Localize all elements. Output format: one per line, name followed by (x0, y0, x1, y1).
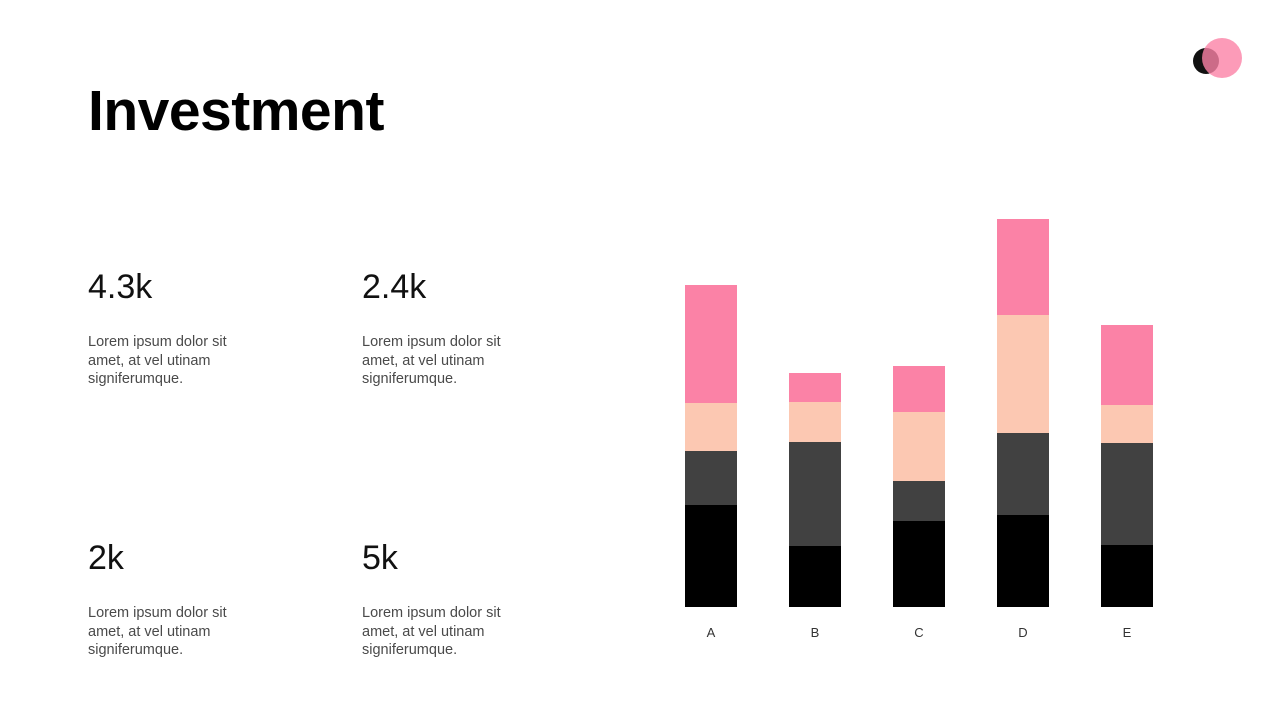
stat-card-1: 4.3k Lorem ipsum dolor sit amet, at vel … (88, 268, 362, 388)
stat-value-4: 5k (362, 539, 558, 578)
bar-segment-a-peach (685, 403, 737, 451)
bar-segment-c-gray (893, 481, 945, 521)
stat-description-4: Lorem ipsum dolor sit amet, at vel utina… (362, 604, 534, 659)
stat-description-3: Lorem ipsum dolor sit amet, at vel utina… (88, 604, 260, 659)
stacked-bar-chart: ABCDE (660, 170, 1180, 640)
bar-segment-c-black (893, 521, 945, 607)
bar-segment-d-peach (997, 315, 1049, 433)
bar-column-a[interactable] (685, 285, 737, 607)
stats-grid: 4.3k Lorem ipsum dolor sit amet, at vel … (88, 268, 558, 660)
stat-value-3: 2k (88, 539, 362, 578)
stat-card-3: 2k Lorem ipsum dolor sit amet, at vel ut… (88, 539, 362, 659)
x-axis-label-e: E (1101, 625, 1153, 640)
bar-segment-a-gray (685, 451, 737, 505)
bar-column-d[interactable] (997, 219, 1049, 607)
x-axis-label-c: C (893, 625, 945, 640)
bar-segment-b-pink (789, 373, 841, 402)
slide-investment: Investment 4.3k Lorem ipsum dolor sit am… (0, 0, 1280, 720)
stat-description-1: Lorem ipsum dolor sit amet, at vel utina… (88, 333, 260, 388)
bar-segment-d-pink (997, 219, 1049, 315)
stats-row-bottom: 2k Lorem ipsum dolor sit amet, at vel ut… (88, 539, 558, 659)
bar-segment-b-gray (789, 442, 841, 546)
stat-card-4: 5k Lorem ipsum dolor sit amet, at vel ut… (362, 539, 558, 659)
logo-mark (1188, 34, 1248, 86)
bar-segment-b-black (789, 546, 841, 607)
bar-segment-d-black (997, 515, 1049, 607)
stat-card-2: 2.4k Lorem ipsum dolor sit amet, at vel … (362, 268, 558, 388)
bar-segment-a-black (685, 505, 737, 607)
stats-row-top: 4.3k Lorem ipsum dolor sit amet, at vel … (88, 268, 558, 388)
bar-segment-b-peach (789, 402, 841, 442)
x-axis-label-d: D (997, 625, 1049, 640)
bar-segment-a-pink (685, 285, 737, 403)
chart-plot-area (660, 170, 1180, 607)
bar-segment-e-black (1101, 545, 1153, 607)
bar-segment-e-pink (1101, 325, 1153, 405)
bar-column-c[interactable] (893, 366, 945, 607)
stat-value-1: 4.3k (88, 268, 362, 307)
bar-segment-c-pink (893, 366, 945, 412)
stat-description-2: Lorem ipsum dolor sit amet, at vel utina… (362, 333, 534, 388)
page-title: Investment (88, 82, 384, 142)
bar-segment-c-peach (893, 412, 945, 481)
x-axis-label-b: B (789, 625, 841, 640)
chart-x-axis: ABCDE (660, 614, 1180, 640)
x-axis-label-a: A (685, 625, 737, 640)
bar-column-b[interactable] (789, 373, 841, 607)
pink-circle-icon (1202, 38, 1242, 78)
bar-segment-e-gray (1101, 443, 1153, 545)
stat-value-2: 2.4k (362, 268, 558, 307)
bar-column-e[interactable] (1101, 325, 1153, 607)
bar-segment-e-peach (1101, 405, 1153, 443)
bar-segment-d-gray (997, 433, 1049, 515)
